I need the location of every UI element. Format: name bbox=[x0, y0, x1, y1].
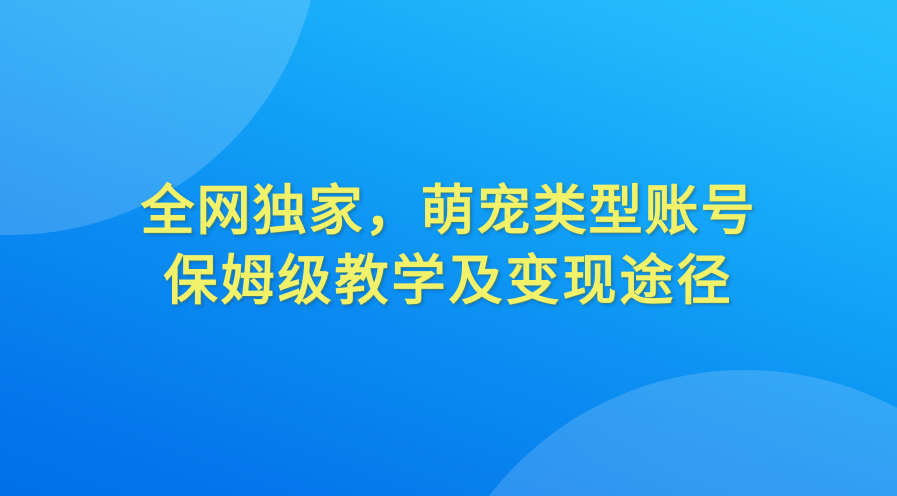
headline-line-2: 保姆级教学及变现途径 bbox=[0, 246, 897, 316]
headline-line-1: 全网独家，萌宠类型账号 bbox=[0, 176, 897, 246]
headline-block: 全网独家，萌宠类型账号 保姆级教学及变现途径 bbox=[0, 176, 897, 316]
promo-poster: 全网独家，萌宠类型账号 保姆级教学及变现途径 bbox=[0, 0, 897, 496]
decorative-circle-bottom-right bbox=[422, 370, 897, 496]
